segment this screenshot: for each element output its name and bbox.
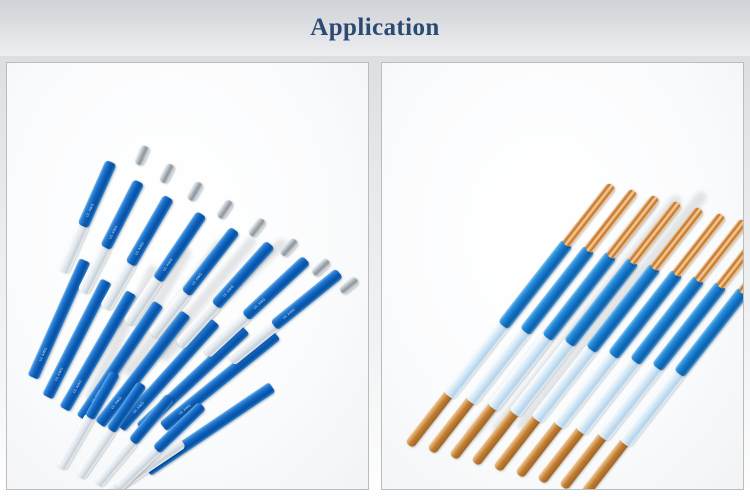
wire-print-label: UL AWG xyxy=(253,297,267,310)
wire-ferrule xyxy=(134,145,150,167)
image-gallery: UL AWG UL AWG UL AWG xyxy=(0,56,750,502)
wire-print-label: UL AWG xyxy=(282,308,296,320)
photo-canvas-right xyxy=(382,63,743,489)
wire-print-label: UL AWG xyxy=(134,241,145,256)
wire-jacket-blue: UL AWG xyxy=(78,160,117,228)
wire-ferrule xyxy=(338,276,359,296)
wire-print-label: UL AWG xyxy=(191,272,203,286)
page-header: Application xyxy=(0,0,750,56)
wire-ferrule xyxy=(247,217,266,238)
wire-ferrule xyxy=(186,181,204,203)
page-title: Application xyxy=(310,14,439,42)
wire-print-label: UL AWG xyxy=(72,379,83,394)
wire-bundle-left: UL AWG UL AWG UL AWG xyxy=(7,63,368,489)
wire-item: UL AWG xyxy=(78,179,145,295)
product-photo-left[interactable]: UL AWG UL AWG UL AWG xyxy=(6,62,369,490)
application-page: Application UL AWG xyxy=(0,0,750,502)
wire-print-label: UL AWG xyxy=(108,225,118,240)
wire-item: UL AWG xyxy=(57,160,117,275)
wire-ferrule xyxy=(158,163,175,185)
wire-ferrule xyxy=(216,199,235,221)
photo-canvas-left: UL AWG UL AWG UL AWG xyxy=(7,63,368,489)
wire-print-label: UL AWG xyxy=(38,347,48,362)
wire-print-label: UL AWG xyxy=(54,367,64,382)
wire-print-label: UL AWG xyxy=(85,203,95,218)
product-photo-right[interactable] xyxy=(381,62,744,490)
wire-bundle-right xyxy=(382,63,743,489)
